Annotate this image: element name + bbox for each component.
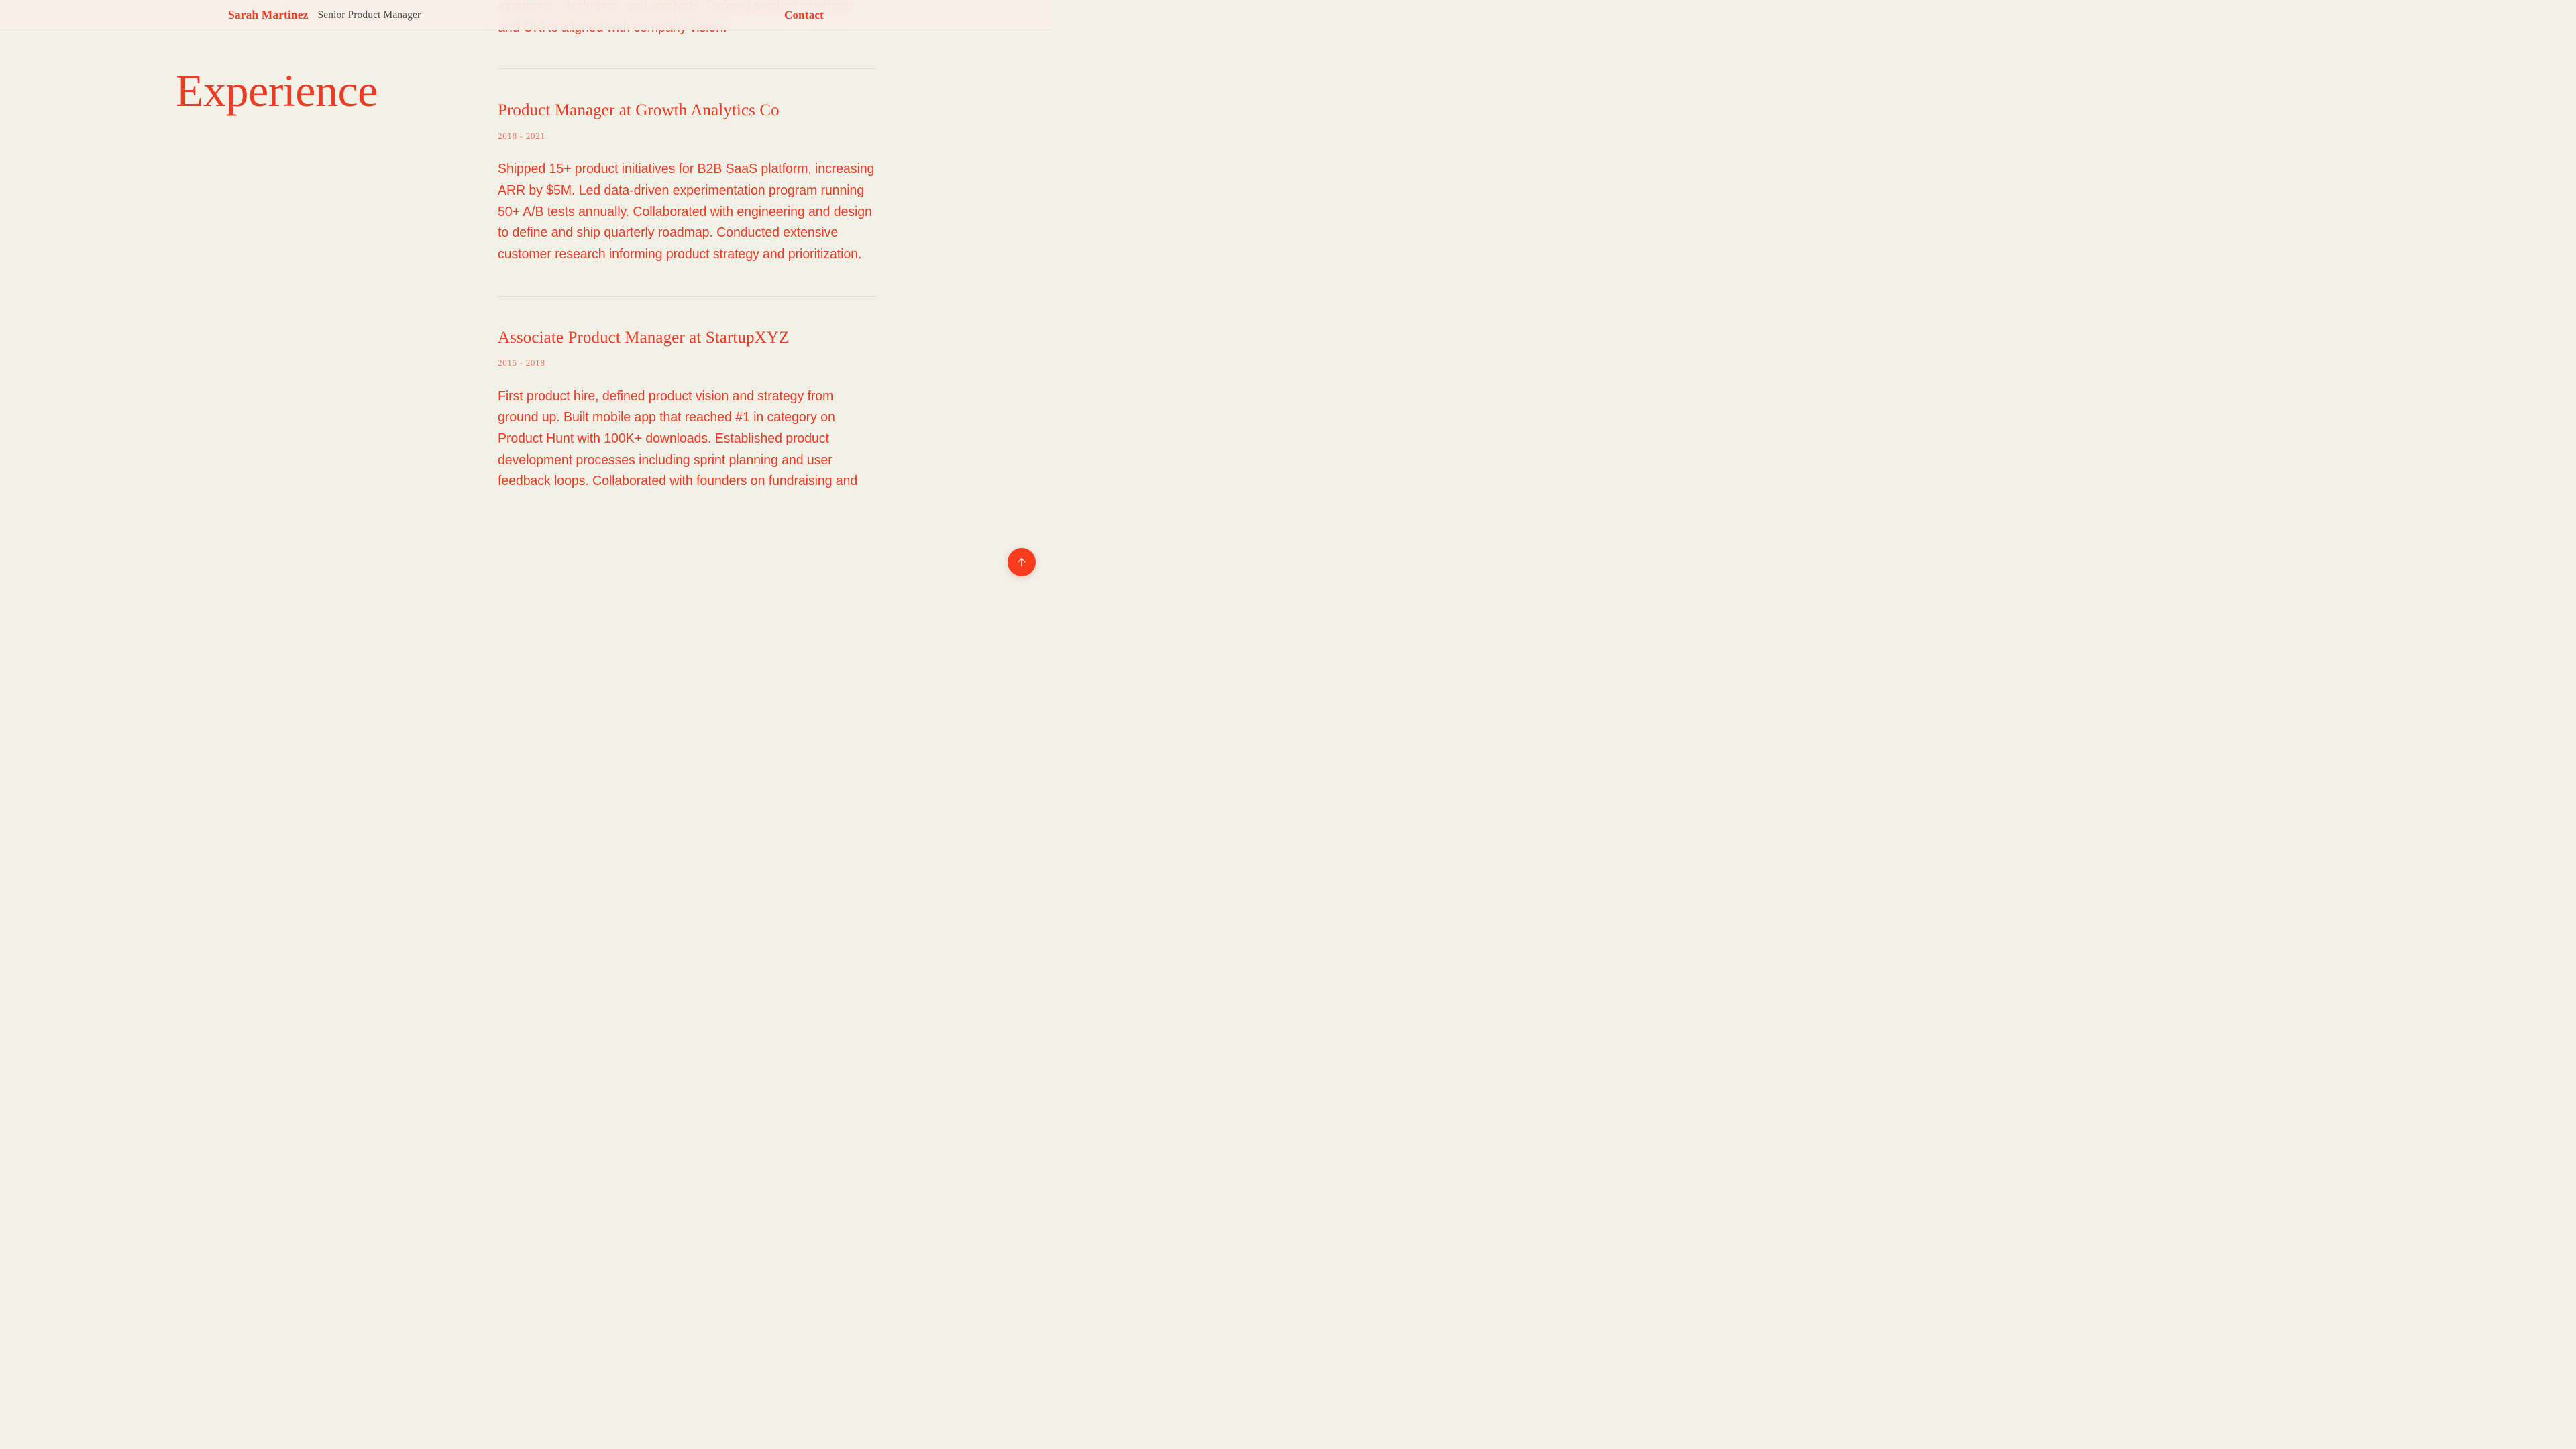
entry-divider [498,296,877,297]
entry-divider [498,68,877,69]
scroll-to-top-button[interactable] [1008,548,1036,576]
page-title: Experience [176,67,471,115]
experience-entry-description: First product hire, defined product visi… [498,386,877,492]
experience-entry-title: Associate Product Manager at StartupXYZ [498,327,877,348]
arrow-up-icon [1016,556,1028,568]
site-header: Sarah Martinez Senior Product Manager Co… [0,0,1052,30]
experience-entry: Associate Product Manager at StartupXYZ … [498,327,877,492]
experience-entry-dates: 2015 - 2018 [498,358,877,368]
experience-entry: Product Manager at Growth Analytics Co 2… [498,100,877,264]
brand-role: Senior Product Manager [318,9,421,21]
experience-entry-description: Shipped 15+ product initiatives for B2B … [498,158,877,265]
experience-entry-title: Product Manager at Growth Analytics Co [498,100,877,121]
page-root: Experience Senior Product Manager at Tec… [0,0,1052,592]
nav-link-contact[interactable]: Contact [784,9,824,22]
experience-list: Senior Product Manager at TechCorp 2021 … [498,30,877,492]
brand-name[interactable]: Sarah Martinez [228,8,309,22]
brand[interactable]: Sarah Martinez Senior Product Manager [228,0,421,30]
experience-entry-dates: 2018 - 2021 [498,131,877,142]
left-column: Experience [176,67,471,115]
header-nav: Contact [784,0,1052,30]
